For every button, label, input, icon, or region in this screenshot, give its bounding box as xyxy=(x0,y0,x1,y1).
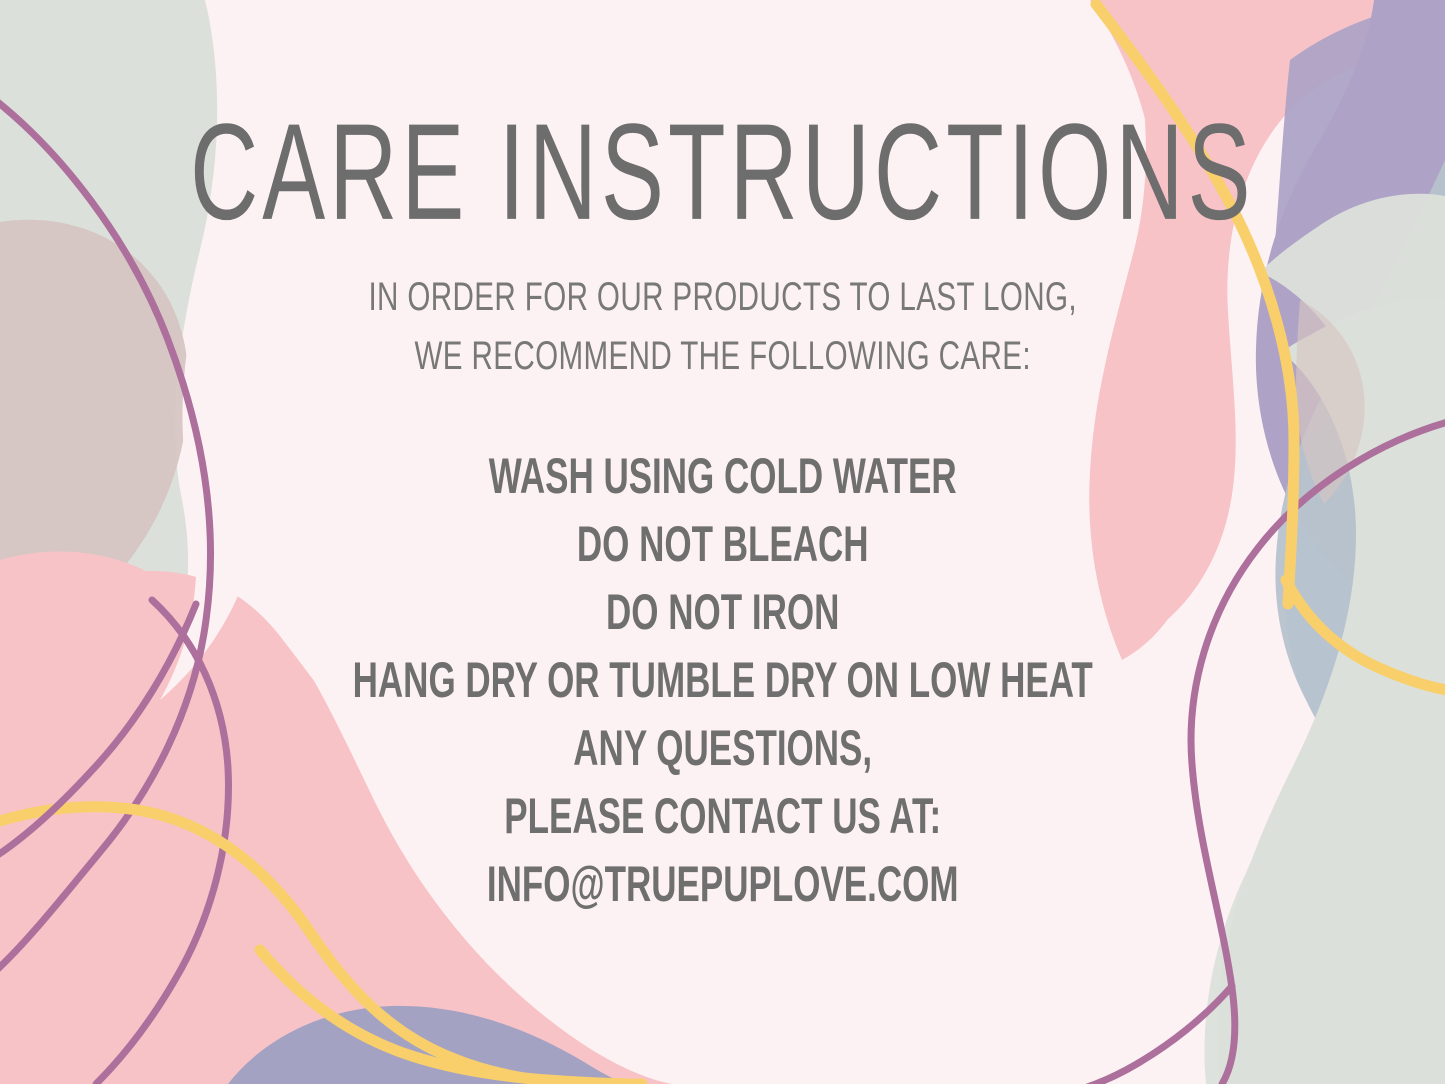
card-content: CARE INSTRUCTIONS IN ORDER FOR OUR PRODU… xyxy=(0,0,1445,1084)
questions-prompt: ANY QUESTIONS, xyxy=(352,714,1092,782)
contact-prompt: PLEASE CONTACT US AT: xyxy=(352,782,1092,850)
instruction-wash: WASH USING COLD WATER xyxy=(352,442,1092,510)
instruction-no-bleach: DO NOT BLEACH xyxy=(352,510,1092,578)
instruction-dry: HANG DRY OR TUMBLE DRY ON LOW HEAT xyxy=(352,646,1092,714)
contact-email: INFO@TRUEPUPLOVE.COM xyxy=(352,850,1092,918)
page-title: CARE INSTRUCTIONS xyxy=(190,104,1255,241)
instruction-list: WASH USING COLD WATER DO NOT BLEACH DO N… xyxy=(352,442,1092,918)
instruction-no-iron: DO NOT IRON xyxy=(352,578,1092,646)
care-instructions-card: CARE INSTRUCTIONS IN ORDER FOR OUR PRODU… xyxy=(0,0,1445,1084)
intro-text-block: IN ORDER FOR OUR PRODUCTS TO LAST LONG, … xyxy=(368,268,1076,386)
intro-line-1: IN ORDER FOR OUR PRODUCTS TO LAST LONG, xyxy=(368,268,1076,327)
intro-line-2: WE RECOMMEND THE FOLLOWING CARE: xyxy=(368,327,1076,386)
